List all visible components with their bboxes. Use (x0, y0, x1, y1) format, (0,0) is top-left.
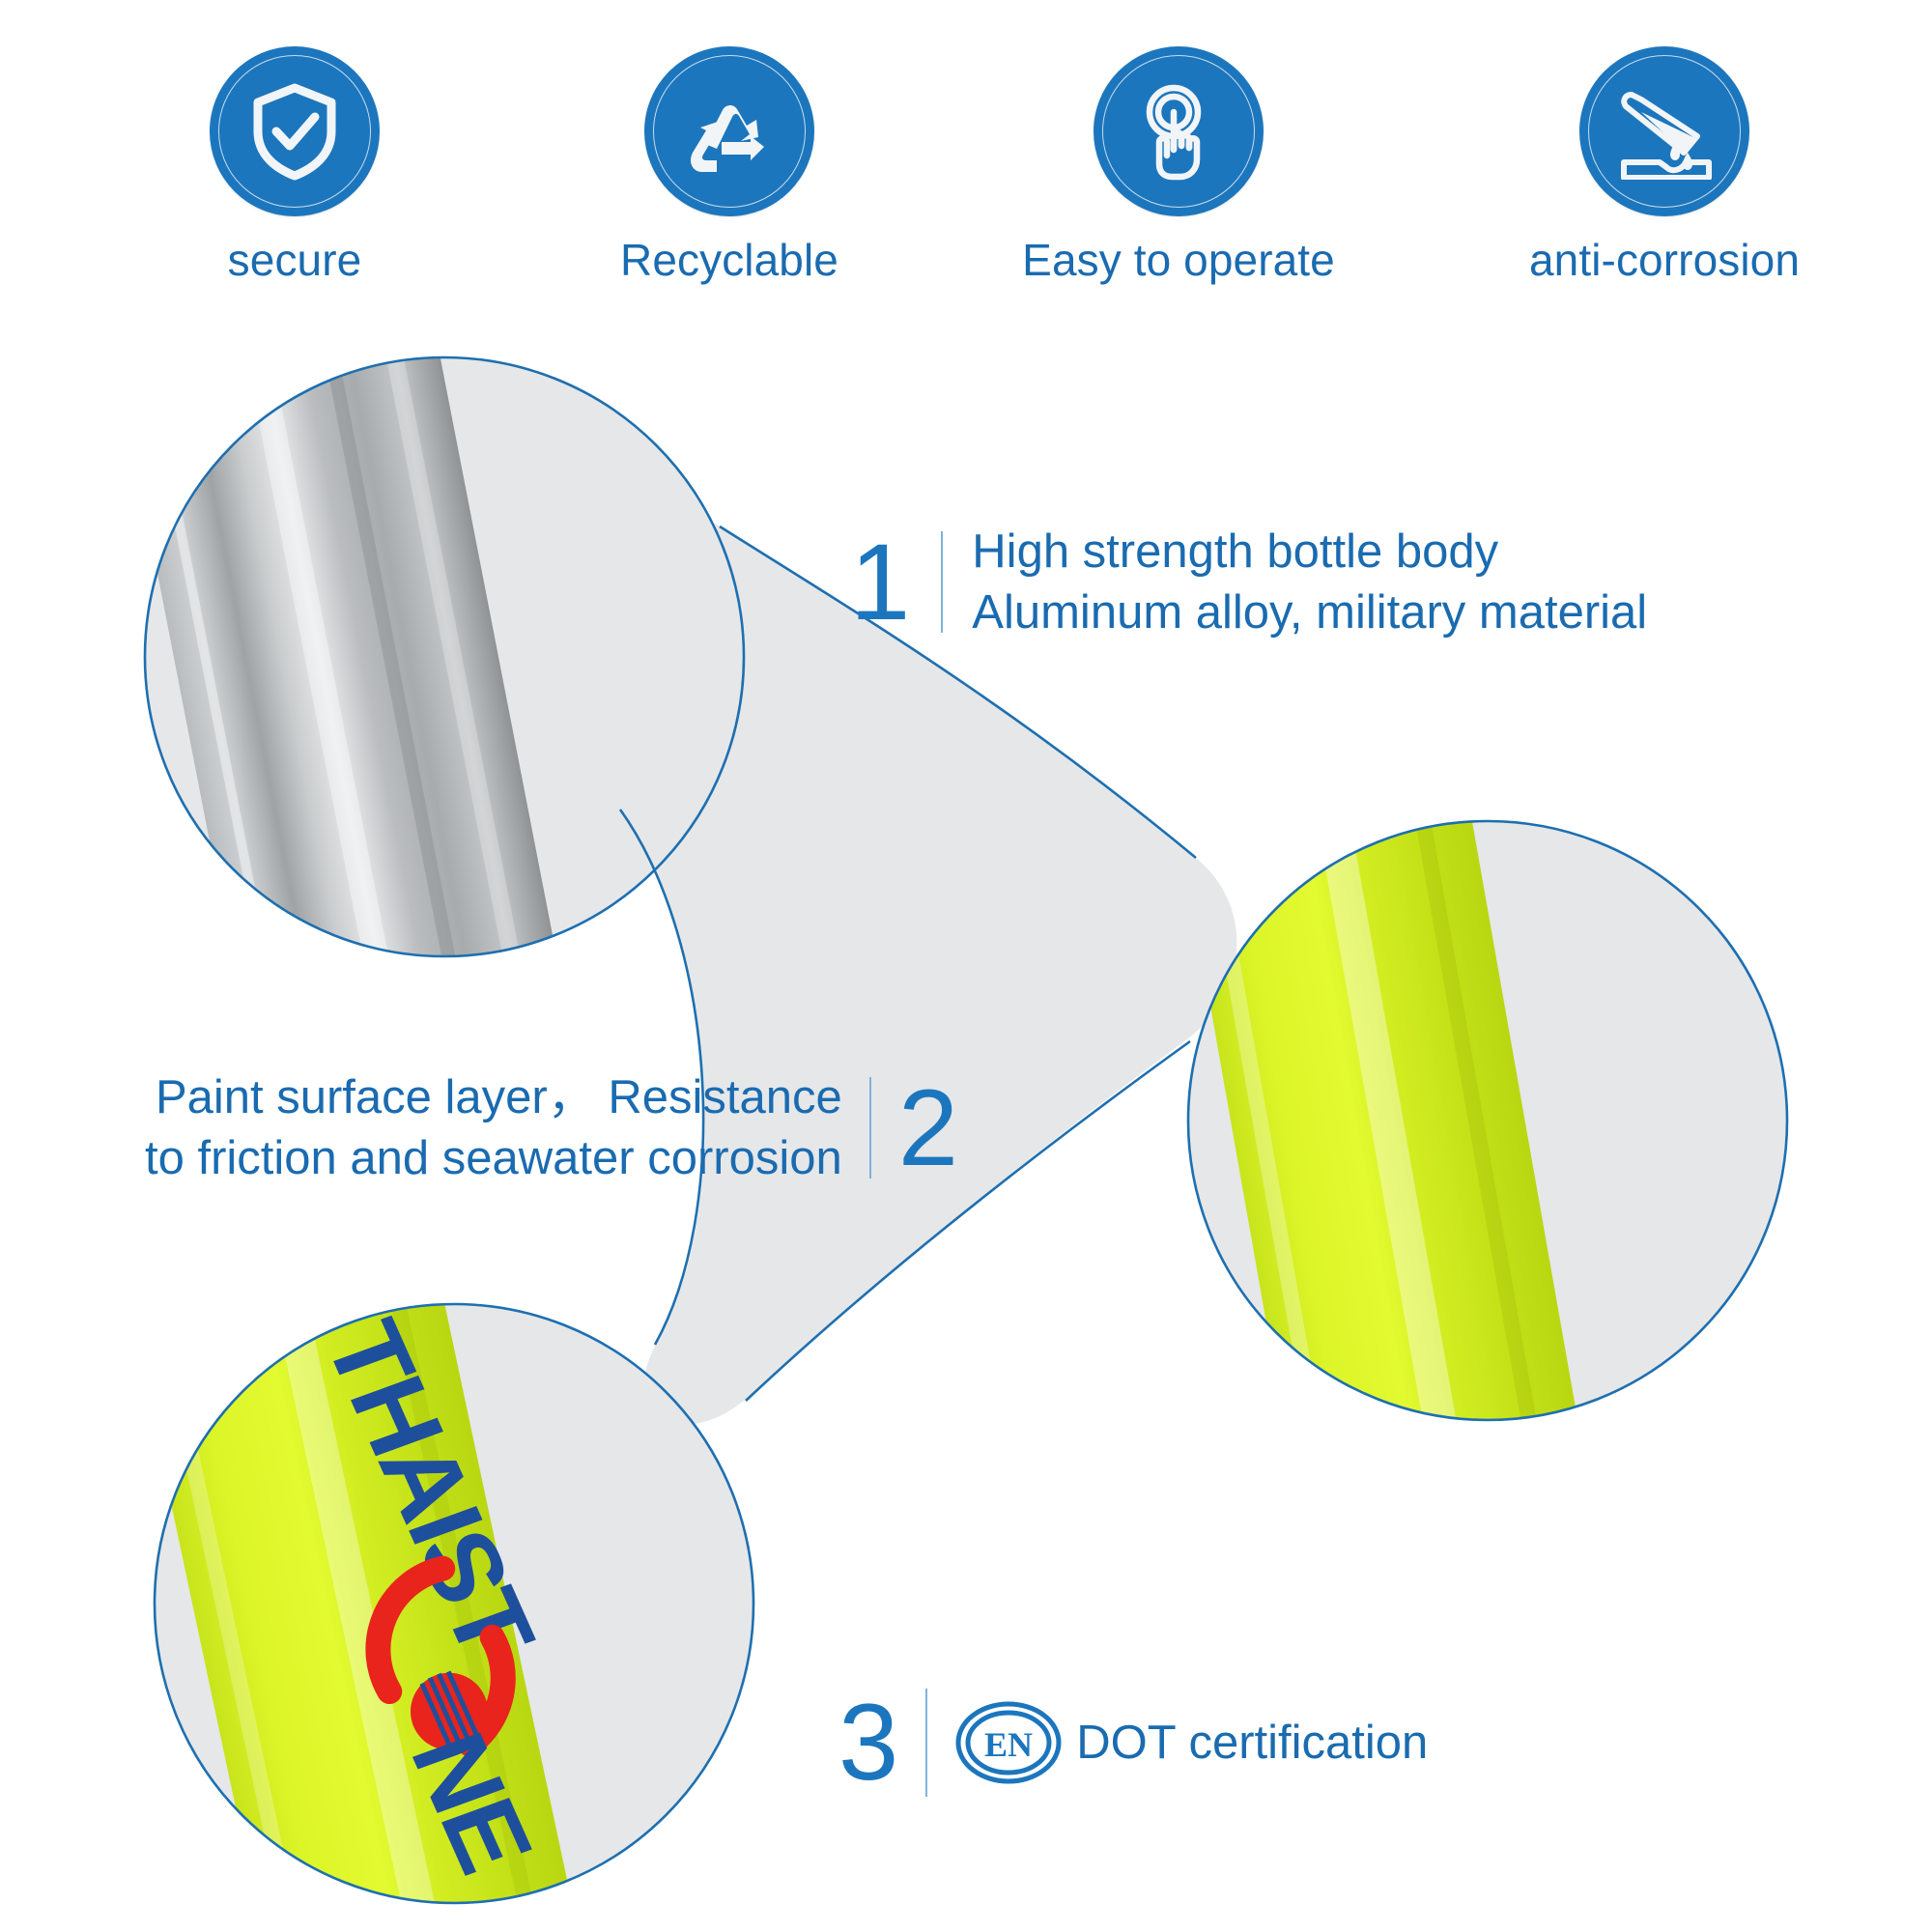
callout-2-line-2: to friction and seawater corrosion (145, 1128, 842, 1189)
callout-1-line-1: High strength bottle body (972, 522, 1647, 582)
callout-1: 1 High strength bottle body Aluminum all… (850, 522, 1647, 642)
feature-badge-label: Easy to operate (1022, 238, 1335, 282)
branded-cylinder-photo: THAIST NE (113, 1167, 753, 1932)
hand-tap-icon (1094, 46, 1264, 216)
callout-3-number: 3 (838, 1689, 898, 1797)
callout-1-line-2: Aluminum alloy, military material (972, 582, 1647, 643)
aluminum-cylinder-photo (102, 319, 744, 1144)
shield-check-icon (210, 46, 380, 216)
feature-badge-easy-to-operate[interactable]: Easy to operate (1067, 46, 1290, 282)
corrosion-icon (1579, 46, 1749, 216)
callout-1-divider (941, 531, 943, 633)
feature-badge-secure[interactable]: secure (184, 46, 406, 282)
callout-2-number: 2 (898, 1074, 958, 1182)
callout-2: Paint surface layer， Resistance to frict… (145, 1067, 958, 1188)
recycle-icon (644, 46, 814, 216)
feature-badge-row: secure Recyclable (0, 46, 1932, 327)
callout-1-number: 1 (850, 528, 910, 637)
feature-badge-recyclable[interactable]: Recyclable (618, 46, 840, 282)
callout-3-line-1: DOT certification (1076, 1713, 1428, 1774)
en-certification-icon: EN (954, 1701, 1063, 1784)
feature-badge-label: Recyclable (620, 238, 838, 282)
callout-2-divider (869, 1077, 871, 1179)
infographic-canvas: secure Recyclable (0, 0, 1932, 1932)
feature-badge-anti-corrosion[interactable]: anti-corrosion (1553, 46, 1776, 282)
feature-badge-label: anti-corrosion (1529, 238, 1800, 282)
callout-3-divider (925, 1689, 927, 1797)
feature-badge-label: secure (228, 238, 362, 282)
en-mark-text: EN (984, 1725, 1033, 1764)
callout-2-line-1: Paint surface layer， Resistance (145, 1067, 842, 1128)
callout-3: 3 EN DOT certification (838, 1681, 1428, 1804)
